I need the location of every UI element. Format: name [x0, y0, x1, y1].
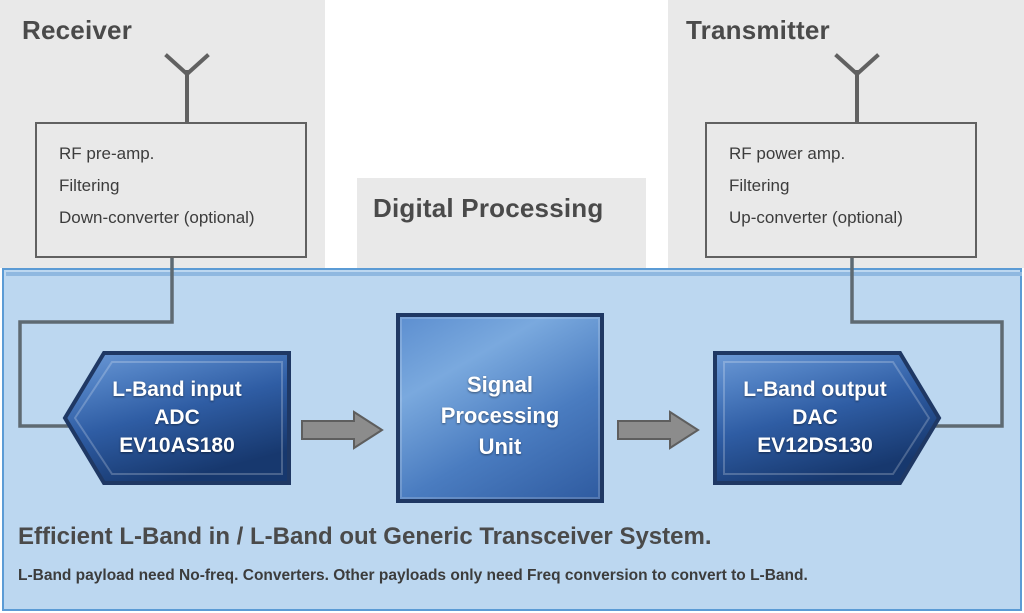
transmitter-antenna-icon [825, 50, 889, 128]
headline-caption: Efficient L-Band in / L-Band out Generic… [18, 523, 712, 551]
dac-chip-shape [712, 350, 942, 486]
spu-line-1: Signal [396, 369, 604, 400]
receiver-antenna-icon [155, 50, 219, 128]
adc-chip-shape [62, 350, 292, 486]
digital-processing-title: Digital Processing [373, 193, 603, 224]
transmitter-rf-line-3: Up-converter (optional) [729, 208, 903, 228]
receiver-rf-box: RF pre-amp. Filtering Down-converter (op… [35, 122, 307, 258]
receiver-rf-line-1: RF pre-amp. [59, 144, 154, 164]
transmitter-rf-line-1: RF power amp. [729, 144, 845, 164]
receiver-rf-line-2: Filtering [59, 176, 119, 196]
flow-arrow-adc-to-spu [300, 410, 384, 450]
transmitter-rf-box: RF power amp. Filtering Up-converter (op… [705, 122, 977, 258]
transmitter-rf-line-2: Filtering [729, 176, 789, 196]
spu-line-2: Processing [396, 400, 604, 431]
dac-block[interactable]: L-Band output DAC EV12DS130 [712, 350, 942, 486]
adc-block[interactable]: L-Band input ADC EV10AS180 [62, 350, 292, 486]
receiver-rf-line-3: Down-converter (optional) [59, 208, 255, 228]
subline-caption: L-Band payload need No-freq. Converters.… [18, 567, 808, 585]
signal-processing-unit-block[interactable]: Signal Processing Unit [396, 313, 604, 503]
transmitter-title: Transmitter [686, 15, 830, 46]
spu-line-3: Unit [396, 431, 604, 462]
receiver-title: Receiver [22, 15, 132, 46]
flow-arrow-spu-to-dac [616, 410, 700, 450]
diagram-canvas: Receiver Transmitter Digital Processing … [0, 0, 1024, 613]
